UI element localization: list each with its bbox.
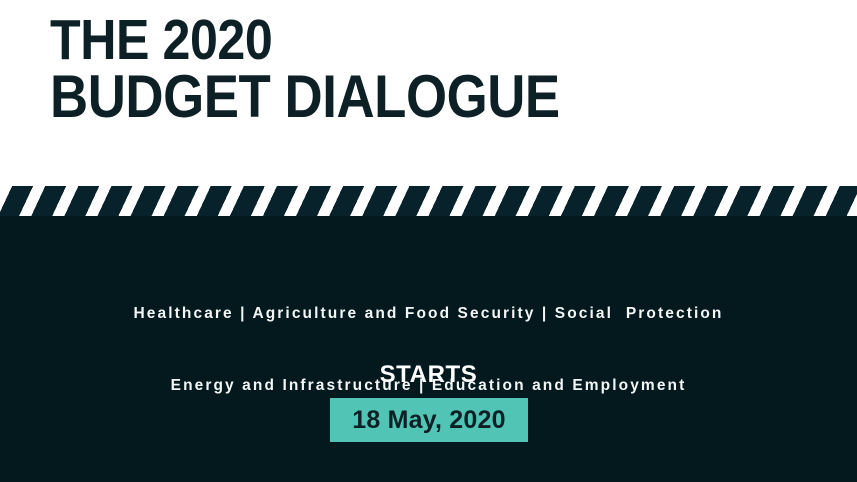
poster-header: THE 2020 BUDGET DIALOGUE: [0, 0, 857, 186]
topics-line-1: Healthcare | Agriculture and Food Securi…: [0, 302, 857, 326]
start-date-text: 18 May, 2020: [352, 407, 505, 433]
starts-label: STARTS: [0, 361, 857, 389]
start-date-badge: 18 May, 2020: [330, 398, 528, 442]
poster-body: Healthcare | Agriculture and Food Securi…: [0, 216, 857, 482]
poster-title: THE 2020 BUDGET DIALOGUE: [50, 13, 629, 126]
diagonal-stripe-divider: [0, 186, 857, 216]
poster-canvas: THE 2020 BUDGET DIALOGUE Healthcare | Ag…: [0, 0, 857, 482]
title-line-2: BUDGET DIALOGUE: [50, 68, 560, 126]
title-line-1: THE 2020: [50, 13, 560, 68]
